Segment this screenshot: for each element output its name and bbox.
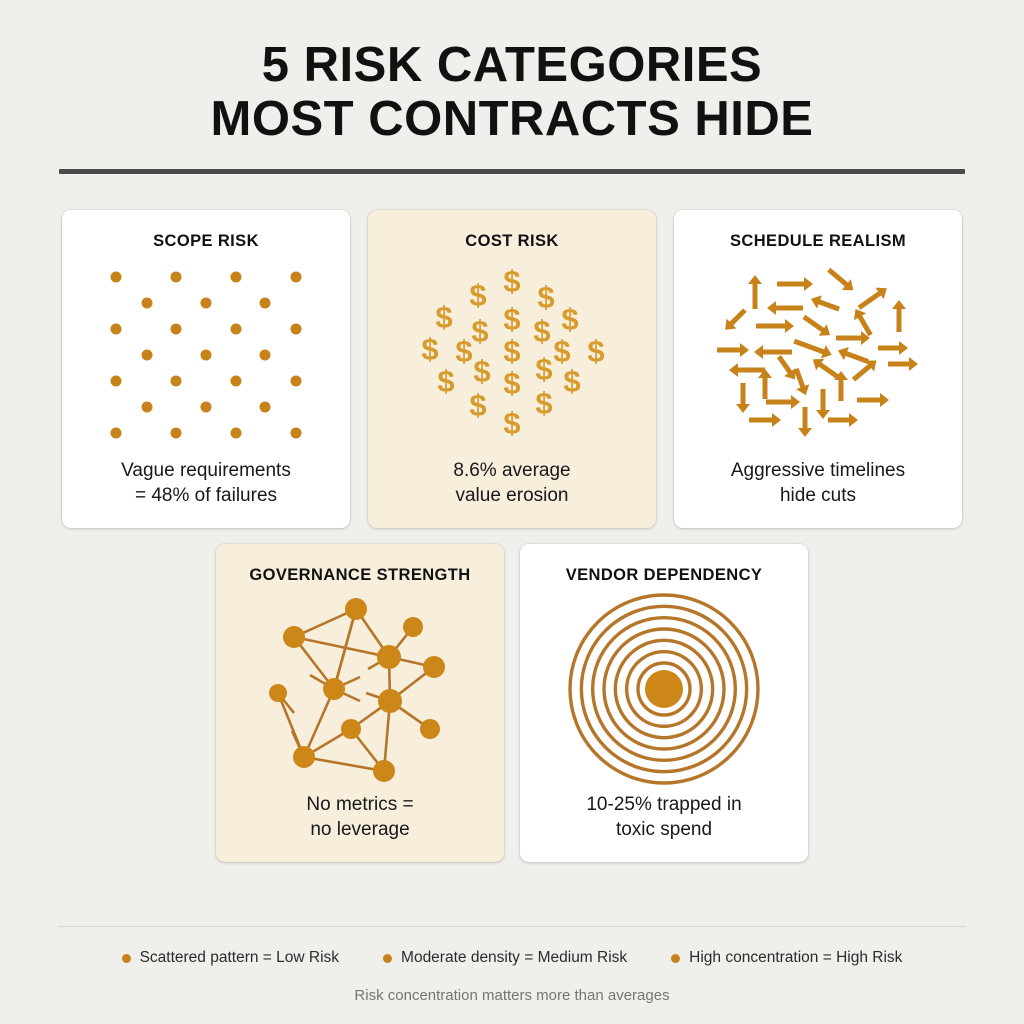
bullet-dot-icon bbox=[671, 954, 680, 963]
legend-label: High concentration = High Risk bbox=[689, 949, 902, 967]
page-title-line-2: MOST CONTRACTS HIDE bbox=[0, 92, 1024, 146]
legend: Scattered pattern = Low Risk Moderate de… bbox=[0, 949, 1024, 967]
scope-risk-visual bbox=[76, 251, 336, 458]
bullet-dot-icon bbox=[122, 954, 131, 963]
card-title: SCHEDULE REALISM bbox=[730, 232, 906, 251]
card-vendor-dependency[interactable]: VENDOR DEPENDENCY 10-25% trapped in toxi… bbox=[520, 544, 808, 862]
arrow-scatter-icon bbox=[713, 264, 923, 446]
card-caption: 8.6% average value erosion bbox=[453, 458, 570, 512]
title-divider bbox=[59, 169, 965, 174]
page-title-line-1: 5 RISK CATEGORIES bbox=[0, 38, 1024, 92]
cost-risk-visual: $$$$$$$$$$$$$$$$$$$$$ bbox=[382, 251, 642, 458]
title-block: 5 RISK CATEGORIES MOST CONTRACTS HIDE bbox=[0, 0, 1024, 174]
card-row-2: GOVERNANCE STRENGTH No metrics = no leve… bbox=[0, 544, 1024, 862]
footer-divider bbox=[58, 926, 966, 927]
card-schedule-realism[interactable]: SCHEDULE REALISM Aggressive timelines hi… bbox=[674, 210, 962, 528]
card-row-1: SCOPE RISK Vague requirements = 48% of f… bbox=[0, 210, 1024, 528]
footer: Scattered pattern = Low Risk Moderate de… bbox=[0, 926, 1024, 1004]
card-title: GOVERNANCE STRENGTH bbox=[249, 566, 470, 585]
card-scope-risk[interactable]: SCOPE RISK Vague requirements = 48% of f… bbox=[62, 210, 350, 528]
dot-grid-icon bbox=[108, 269, 304, 441]
card-cost-risk[interactable]: COST RISK $$$$$$$$$$$$$$$$$$$$$ 8.6% ave… bbox=[368, 210, 656, 528]
card-caption: 10-25% trapped in toxic spend bbox=[586, 792, 741, 846]
dollar-cluster-icon: $$$$$$$$$$$$$$$$$$$$$ bbox=[420, 267, 604, 443]
card-caption: No metrics = no leverage bbox=[306, 792, 413, 846]
footer-note: Risk concentration matters more than ave… bbox=[0, 987, 1024, 1004]
legend-label: Scattered pattern = Low Risk bbox=[140, 949, 339, 967]
network-graph-icon bbox=[256, 589, 464, 789]
governance-strength-visual bbox=[230, 585, 490, 792]
card-title: VENDOR DEPENDENCY bbox=[566, 566, 763, 585]
card-caption: Vague requirements = 48% of failures bbox=[121, 458, 291, 512]
legend-label: Moderate density = Medium Risk bbox=[401, 949, 627, 967]
schedule-realism-visual bbox=[688, 251, 948, 458]
infographic-page: 5 RISK CATEGORIES MOST CONTRACTS HIDE SC… bbox=[0, 0, 1024, 1024]
card-title: SCOPE RISK bbox=[153, 232, 259, 251]
concentric-rings-icon bbox=[564, 589, 764, 789]
card-title: COST RISK bbox=[465, 232, 558, 251]
bullet-dot-icon bbox=[383, 954, 392, 963]
card-governance-strength[interactable]: GOVERNANCE STRENGTH No metrics = no leve… bbox=[216, 544, 504, 862]
legend-item-high-risk: High concentration = High Risk bbox=[671, 949, 902, 967]
card-caption: Aggressive timelines hide cuts bbox=[731, 458, 905, 512]
vendor-dependency-visual bbox=[534, 585, 794, 792]
legend-item-medium-risk: Moderate density = Medium Risk bbox=[383, 949, 627, 967]
legend-item-low-risk: Scattered pattern = Low Risk bbox=[122, 949, 339, 967]
